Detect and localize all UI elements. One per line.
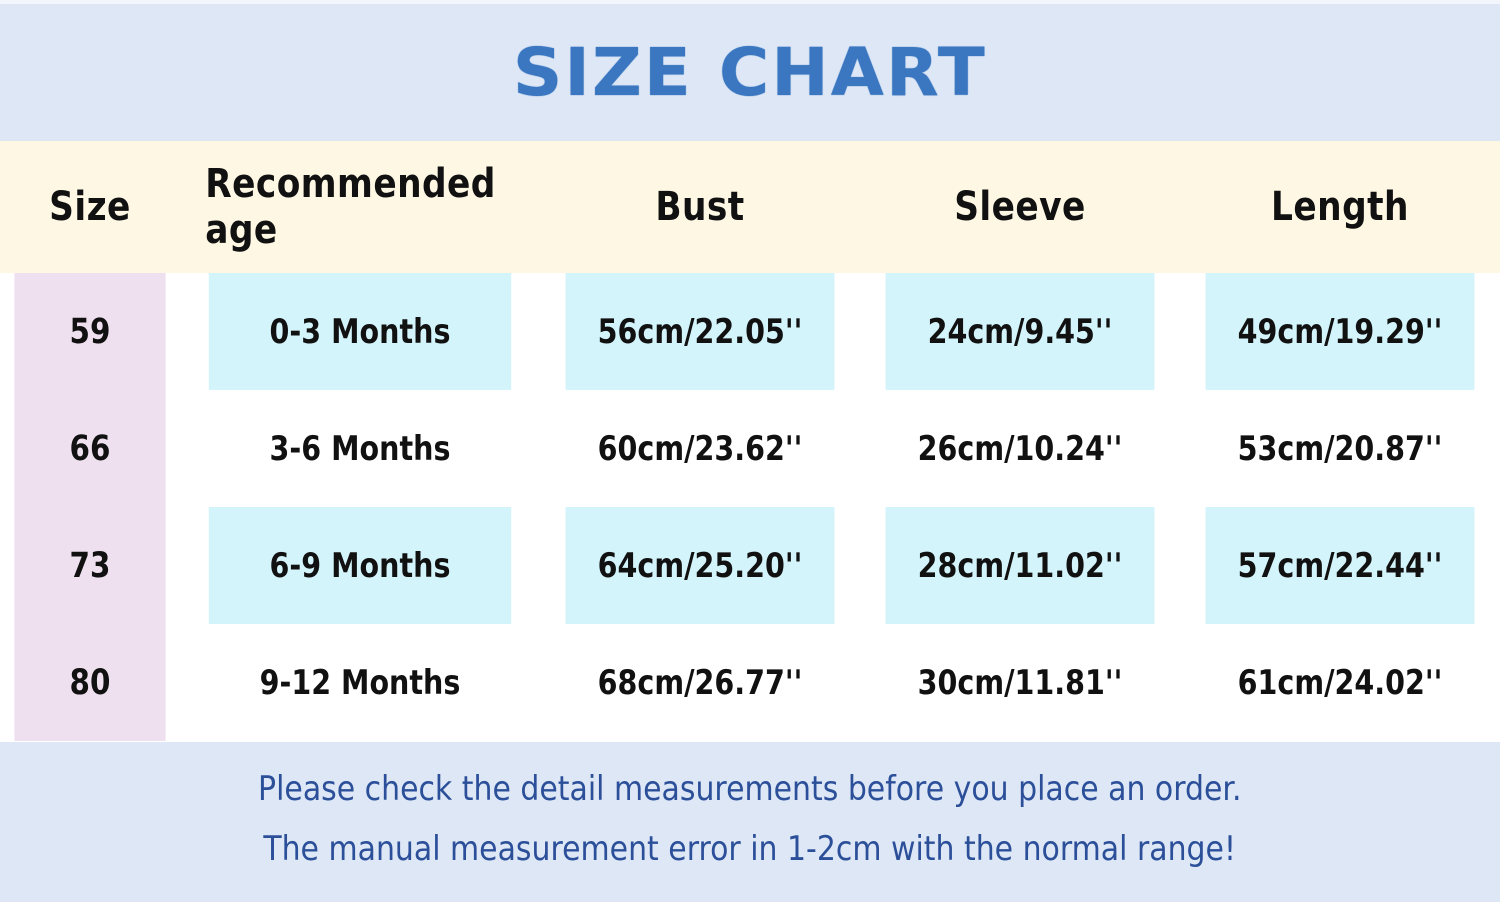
size-table: Size Recommended age Bust Sleeve Length …: [0, 141, 1500, 742]
cell-sleeve: 28cm/11.02'': [886, 507, 1155, 624]
column-header-length: Length: [1202, 141, 1477, 273]
cell-bust: 68cm/26.77'': [566, 624, 835, 741]
cell-bust: 60cm/23.62'': [566, 390, 835, 507]
table-header-row: Size Recommended age Bust Sleeve Length: [0, 141, 1500, 273]
page-title: SIZE CHART: [513, 40, 987, 106]
cell-size: 73: [14, 507, 165, 624]
cell-size: 66: [14, 390, 165, 507]
cell-bust: 56cm/22.05'': [566, 273, 835, 390]
cell-size: 59: [14, 273, 165, 390]
cell-sleeve: 26cm/10.24'': [886, 390, 1155, 507]
column-header-recommended-age: Recommended age: [205, 141, 515, 273]
note-line-2: The manual measurement error in 1-2cm wi…: [264, 832, 1237, 866]
cell-recommended-age: 3-6 Months: [209, 390, 511, 507]
column-header-size: Size: [13, 141, 168, 273]
title-band: SIZE CHART: [0, 0, 1500, 141]
table-row: 66 3-6 Months 60cm/23.62'' 26cm/10.24'' …: [0, 390, 1500, 507]
cell-length: 57cm/22.44'': [1206, 507, 1475, 624]
cell-bust: 64cm/25.20'': [566, 507, 835, 624]
table-row: 80 9-12 Months 68cm/26.77'' 30cm/11.81''…: [0, 624, 1500, 741]
cell-length: 53cm/20.87'': [1206, 390, 1475, 507]
footer-notes: Please check the detail measurements bef…: [0, 742, 1500, 908]
note-line-1: Please check the detail measurements bef…: [258, 772, 1241, 806]
cell-size: 80: [14, 624, 165, 741]
cell-sleeve: 30cm/11.81'': [886, 624, 1155, 741]
column-header-bust: Bust: [562, 141, 837, 273]
cell-recommended-age: 6-9 Months: [209, 507, 511, 624]
cell-sleeve: 24cm/9.45'': [886, 273, 1155, 390]
cell-length: 49cm/19.29'': [1206, 273, 1475, 390]
table-row: 73 6-9 Months 64cm/25.20'' 28cm/11.02'' …: [0, 507, 1500, 624]
cell-length: 61cm/24.02'': [1206, 624, 1475, 741]
table-row: 59 0-3 Months 56cm/22.05'' 24cm/9.45'' 4…: [0, 273, 1500, 390]
cell-recommended-age: 9-12 Months: [209, 624, 511, 741]
column-header-sleeve: Sleeve: [882, 141, 1157, 273]
cell-recommended-age: 0-3 Months: [209, 273, 511, 390]
size-chart-image: SIZE CHART Size Recommended age Bust Sle…: [0, 0, 1500, 908]
